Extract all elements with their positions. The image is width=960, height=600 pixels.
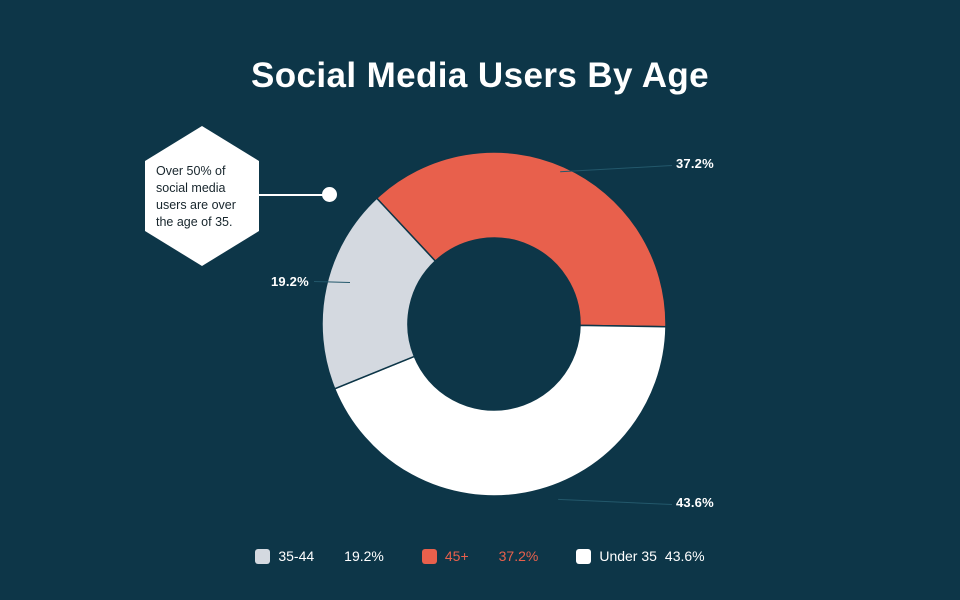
legend-swatch-icon <box>255 549 270 564</box>
legend-item[interactable]: 35-4419.2% <box>255 548 384 564</box>
chart-legend: 35-4419.2%45+37.2%Under 3543.6% <box>0 548 960 564</box>
callout-hexagon: Over 50% of social media users are over … <box>145 126 259 266</box>
callout-text: Over 50% of social media users are over … <box>156 163 254 231</box>
donut-slice[interactable] <box>377 152 666 327</box>
slice-value-label-35-44: 19.2% <box>271 274 309 289</box>
slice-value-label-under35: 43.6% <box>676 495 714 510</box>
legend-swatch-icon <box>576 549 591 564</box>
slice-value-label-45plus: 37.2% <box>676 156 714 171</box>
donut-chart <box>320 150 668 498</box>
legend-item[interactable]: Under 3543.6% <box>576 548 704 564</box>
callout-connector-line <box>257 194 327 196</box>
chart-canvas: Social Media Users By Age 37.2% 19.2% 43… <box>0 0 960 600</box>
legend-value: 19.2% <box>344 548 384 564</box>
donut-chart-svg <box>320 150 668 498</box>
donut-slice-group <box>322 152 666 496</box>
legend-swatch-icon <box>422 549 437 564</box>
legend-item[interactable]: 45+37.2% <box>422 548 538 564</box>
page-title: Social Media Users By Age <box>0 54 960 98</box>
legend-value: 37.2% <box>499 548 539 564</box>
legend-label: Under 35 <box>599 548 657 564</box>
legend-label: 35-44 <box>278 548 314 564</box>
legend-value: 43.6% <box>665 548 705 564</box>
legend-label: 45+ <box>445 548 469 564</box>
leader-line-bottom <box>558 499 672 505</box>
callout-connector-dot <box>322 187 337 202</box>
